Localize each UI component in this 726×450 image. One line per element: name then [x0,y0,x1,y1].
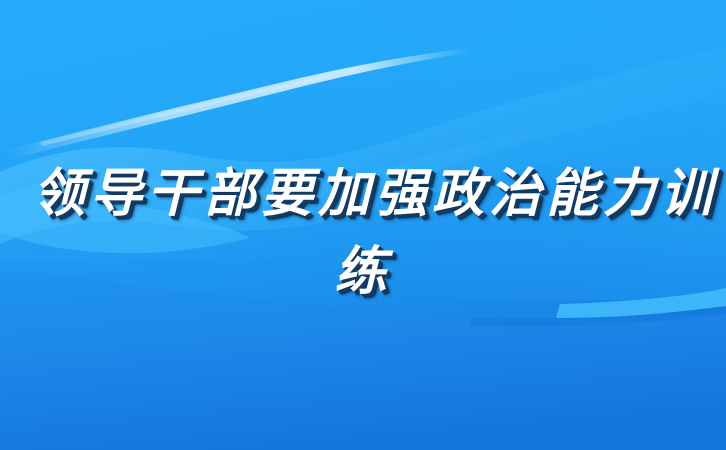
poster-canvas: 领导干部要加强政治能力训 练 [0,0,726,450]
background-graphic [0,0,726,450]
